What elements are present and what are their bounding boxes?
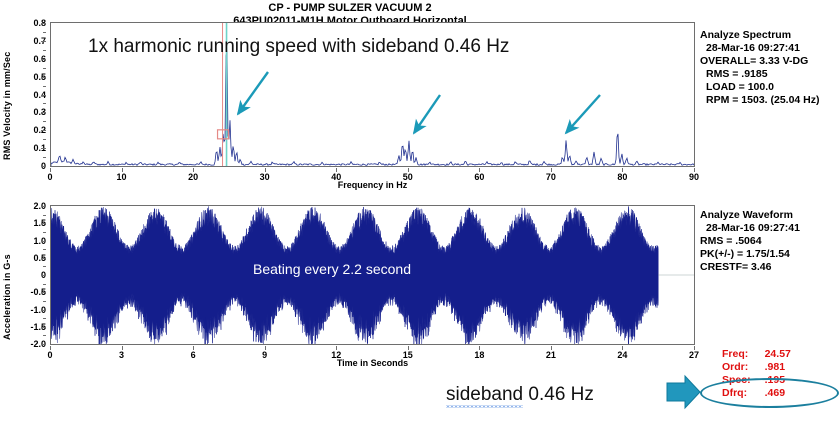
axis-tick-mark bbox=[336, 346, 337, 350]
readout-row: Ordr:.981 bbox=[722, 361, 791, 374]
axis-tick-mark bbox=[41, 206, 46, 207]
axis-minor-tick bbox=[43, 215, 46, 216]
readout-row: Freq:24.57 bbox=[722, 348, 791, 361]
axis-tick-mark bbox=[41, 275, 46, 276]
readout-label: Ordr: bbox=[722, 361, 765, 374]
readout-label: Freq: bbox=[722, 348, 765, 361]
axis-tick-mark bbox=[41, 292, 46, 293]
footer-sideband-annotation: sideband 0.46 Hz bbox=[446, 384, 594, 406]
waveform-info-crestf: CRESTF= 3.46 bbox=[700, 261, 772, 273]
footer-sideband-value: 0.46 Hz bbox=[528, 384, 593, 405]
waveform-info-panel: Analyze Waveform 28-Mar-16 09:27:41 RMS … bbox=[700, 209, 800, 274]
axis-minor-tick bbox=[43, 232, 46, 233]
axis-tick-mark bbox=[41, 258, 46, 259]
axis-tick-mark bbox=[694, 346, 695, 350]
waveform-x-axis-label: Time in Seconds bbox=[50, 358, 695, 368]
axis-tick-mark bbox=[41, 241, 46, 242]
readout-value: 24.57 bbox=[765, 348, 791, 361]
block-arrow-icon bbox=[667, 376, 700, 408]
axis-minor-tick bbox=[43, 318, 46, 319]
waveform-annotation-text: Beating every 2.2 second bbox=[253, 261, 411, 277]
axis-minor-tick bbox=[43, 284, 46, 285]
axis-minor-tick bbox=[43, 249, 46, 250]
axis-tick-mark bbox=[41, 344, 46, 345]
waveform-info-pk: PK(+/-) = 1.75/1.54 bbox=[700, 248, 790, 260]
axis-tick-mark bbox=[41, 310, 46, 311]
waveform-info-datetime: 28-Mar-16 09:27:41 bbox=[700, 222, 800, 235]
arrow-to-3x-peak bbox=[566, 95, 600, 133]
axis-tick-mark bbox=[622, 346, 623, 350]
axis-tick-mark bbox=[122, 346, 123, 350]
arrow-to-1x-peak bbox=[238, 72, 268, 114]
waveform-info-title: Analyze Waveform bbox=[700, 209, 793, 221]
readout-value: .981 bbox=[765, 361, 791, 374]
footer-sideband-word: sideband bbox=[446, 384, 523, 408]
axis-tick-mark bbox=[551, 346, 552, 350]
axis-tick-mark bbox=[265, 346, 266, 350]
axis-minor-tick bbox=[43, 301, 46, 302]
axis-minor-tick bbox=[43, 266, 46, 267]
dfrq-highlight-ellipse bbox=[700, 378, 839, 408]
waveform-info-rms: RMS = .5064 bbox=[700, 235, 762, 247]
axis-tick-mark bbox=[193, 346, 194, 350]
axis-tick-mark bbox=[479, 346, 480, 350]
axis-tick-mark bbox=[408, 346, 409, 350]
waveform-y-ticks: 2.01.51.00.50-0.5-1.0-1.5-2.0 bbox=[0, 205, 46, 345]
axis-tick-mark bbox=[41, 223, 46, 224]
axis-minor-tick bbox=[43, 335, 46, 336]
axis-tick-mark bbox=[41, 327, 46, 328]
arrow-to-2x-peak bbox=[414, 95, 440, 133]
axis-tick-mark bbox=[50, 346, 51, 350]
